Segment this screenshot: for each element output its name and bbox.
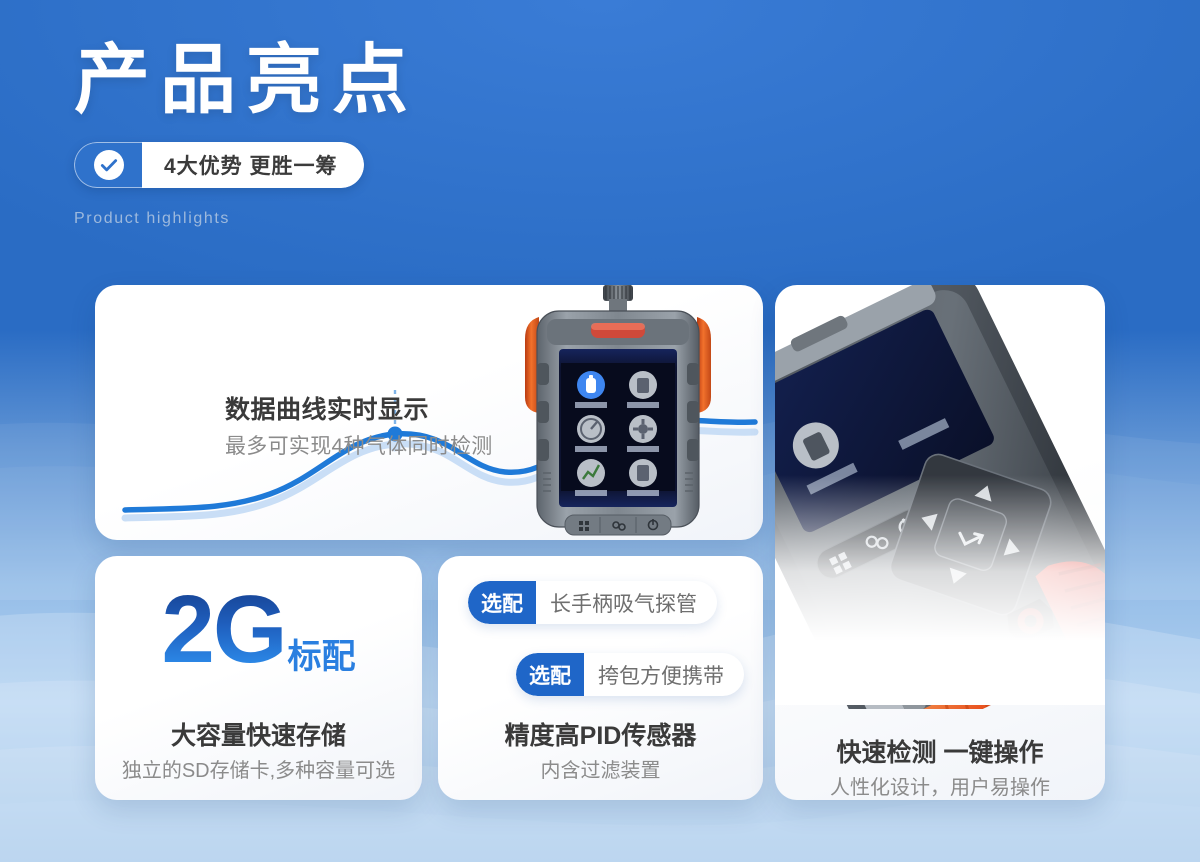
option-row-bag[interactable]: 选配 挎包方便携带 bbox=[516, 653, 744, 696]
card-subtitle: 最多可实现4种气体同时检测 bbox=[225, 430, 493, 460]
card-pid-sensor[interactable]: 选配 长手柄吸气探管 选配 挎包方便携带 精度高PID传感器 内含过滤装置 bbox=[438, 556, 763, 800]
storage-headline: 2G标配 bbox=[95, 584, 422, 678]
handheld-gas-detector-keypad bbox=[775, 285, 1105, 709]
product-highlights-page: 产品亮点 4大优势 更胜一筹 Product highlights 数据曲线实时… bbox=[0, 0, 1200, 862]
option-text: 长手柄吸气探管 bbox=[536, 581, 717, 624]
storage-standard-label: 标配 bbox=[288, 629, 356, 678]
option-text: 挎包方便携带 bbox=[584, 653, 744, 696]
card-storage[interactable]: 2G标配 大容量快速存储 独立的SD存储卡,多种容量可选 bbox=[95, 556, 422, 800]
storage-capacity-value: 2G bbox=[161, 584, 285, 675]
page-subtitle-en: Product highlights bbox=[74, 210, 714, 228]
card-title: 快速检测 一键操作 bbox=[775, 733, 1105, 769]
card-subtitle: 内含过滤装置 bbox=[438, 754, 763, 783]
check-circle-icon bbox=[94, 150, 124, 180]
page-title: 产品亮点 bbox=[74, 40, 714, 122]
badge-label: 4大优势 更胜一筹 bbox=[142, 142, 364, 188]
card-subtitle: 独立的SD存储卡,多种容量可选 bbox=[95, 754, 422, 783]
handheld-gas-detector-front bbox=[503, 285, 733, 540]
badge-icon-area bbox=[74, 142, 142, 188]
card-title: 精度高PID传感器 bbox=[438, 716, 763, 752]
option-row-probe[interactable]: 选配 长手柄吸气探管 bbox=[468, 581, 717, 624]
card-title: 大容量快速存储 bbox=[95, 716, 422, 752]
highlights-badge: 4大优势 更胜一筹 bbox=[74, 142, 364, 188]
card-one-key-operation[interactable]: 快速检测 一键操作 人性化设计，用户易操作 bbox=[775, 285, 1105, 800]
option-tag: 选配 bbox=[468, 581, 536, 624]
card-subtitle: 人性化设计，用户易操作 bbox=[775, 771, 1105, 800]
page-header: 产品亮点 4大优势 更胜一筹 Product highlights bbox=[74, 40, 714, 228]
card-data-curve[interactable]: 数据曲线实时显示 最多可实现4种气体同时检测 bbox=[95, 285, 763, 540]
card-title: 数据曲线实时显示 bbox=[225, 390, 429, 426]
option-tag: 选配 bbox=[516, 653, 584, 696]
